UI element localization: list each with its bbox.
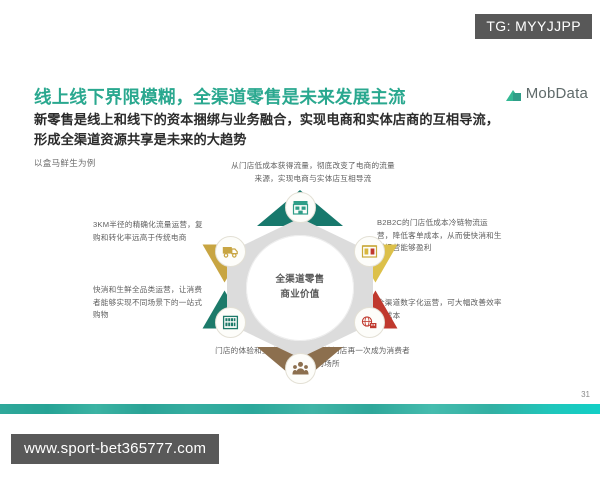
slide-canvas: 线上线下界限模糊，全渠道零售是未来发展主流 MobData 新零售是线上和线下的… [0, 62, 600, 412]
family-people-icon [292, 360, 309, 377]
annotation-right-bottom: 全渠道数字化运营，可大幅改善效率和成本 [377, 297, 502, 322]
center-label-line-2: 商业价值 [280, 288, 319, 303]
annotation-top: 从门店低成本获得流量，彻底改变了电商的流量来源，实现电商与实体店互相导流 [228, 160, 398, 185]
slide-subtitle: 新零售是线上和线下的资本捆绑与业务融合，实现电商和实体店商的互相导流， 形成全渠… [34, 110, 554, 150]
annotation-left-bottom: 快消和生鲜全品类运营，让消费者能够实现不同场景下的一站式购物 [93, 284, 205, 322]
mobdata-brand-label: MobData [526, 85, 588, 102]
center-label-line-1: 全渠道零售 [275, 273, 324, 288]
annotation-left-top: 3KM半径的精确化流量运营，复购和转化率远高于传统电商 [93, 219, 205, 244]
icon-bubble-right-bottom [354, 307, 385, 338]
delivery-truck-icon [222, 243, 239, 260]
digital-network-icon [361, 314, 378, 331]
annotation-right-top: B2B2C的门店低成本冷链物流运营，降低客单成本，从而使快消和生鲜经营能够盈利 [377, 217, 502, 255]
hexagon-value-diagram: 全渠道零售 商业价值 [205, 190, 395, 385]
mobdata-logo-icon [506, 87, 521, 101]
icon-bubble-left-top [215, 236, 246, 267]
subtitle-line-2: 形成全渠道资源共享是未来的大趋势 [34, 130, 554, 150]
footer-gradient-bar [0, 404, 600, 414]
shelf-goods-icon [222, 314, 239, 331]
cold-chain-warehouse-icon [361, 243, 378, 260]
page-number: 31 [581, 390, 590, 399]
example-note: 以盒马鲜生为例 [34, 157, 96, 169]
icon-bubble-bottom [285, 353, 316, 384]
tg-watermark-badge: TG: MYYJJPP [475, 14, 592, 39]
storefront-icon [292, 199, 309, 216]
icon-bubble-top [285, 192, 316, 223]
subtitle-line-1: 新零售是线上和线下的资本捆绑与业务融合，实现电商和实体店商的互相导流， [34, 112, 499, 127]
hexagon-center: 全渠道零售 商业价值 [246, 235, 354, 341]
page-title: 线上线下界限模糊，全渠道零售是未来发展主流 [34, 84, 406, 109]
mobdata-brand: MobData [506, 85, 588, 102]
url-watermark: www.sport-bet365777.com [11, 434, 219, 464]
icon-bubble-right-top [354, 236, 385, 267]
icon-bubble-left-bottom [215, 307, 246, 338]
